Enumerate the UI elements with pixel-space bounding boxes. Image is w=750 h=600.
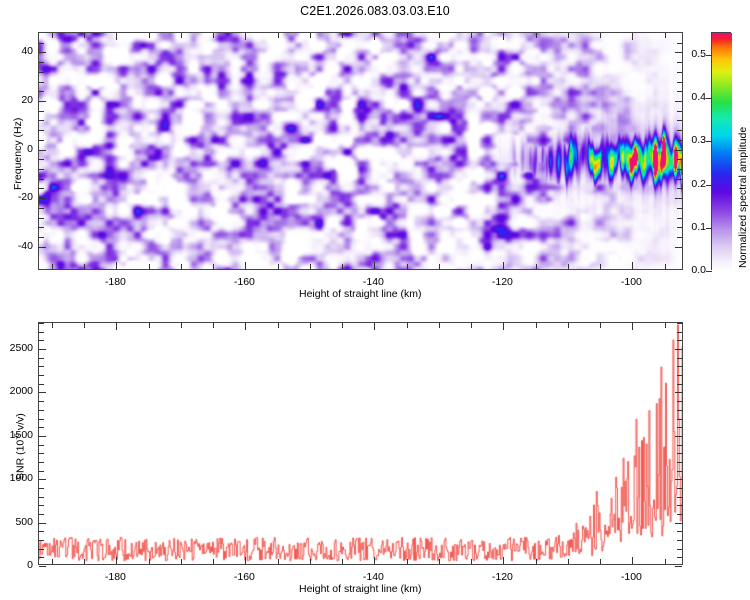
axis-tick — [39, 140, 44, 141]
axis-tick — [677, 72, 682, 73]
colorbar-tick-label: 0.3 — [678, 134, 706, 146]
snr-y-tick-label: 0 — [0, 559, 33, 571]
axis-tick — [568, 33, 569, 38]
figure-root: C2E1.2026.083.03.03.E10 -180-160-140-120… — [0, 0, 750, 600]
spectrogram-y-tick-label: 40 — [0, 45, 33, 57]
axis-tick — [342, 264, 343, 269]
axis-tick — [39, 566, 46, 567]
axis-tick — [39, 549, 44, 550]
axis-tick — [374, 323, 375, 330]
axis-tick — [677, 159, 682, 160]
axis-tick — [39, 531, 44, 532]
axis-tick — [677, 340, 682, 341]
axis-tick — [600, 323, 601, 328]
snr-x-tick-label: -140 — [363, 571, 384, 583]
axis-tick — [310, 323, 311, 328]
axis-tick — [677, 120, 682, 121]
axis-tick — [407, 33, 408, 38]
axis-tick — [39, 488, 44, 489]
axis-tick — [665, 559, 666, 564]
axis-tick — [677, 237, 682, 238]
axis-tick — [39, 557, 44, 558]
colorbar-tick — [706, 141, 712, 142]
axis-tick — [181, 264, 182, 269]
axis-tick — [245, 323, 246, 330]
axis-tick — [677, 427, 682, 428]
axis-tick — [675, 523, 682, 524]
axis-tick — [39, 340, 44, 341]
colorbar-tick-label: 0.5 — [678, 48, 706, 60]
axis-tick — [677, 111, 682, 112]
axis-tick — [677, 471, 682, 472]
axis-tick — [39, 505, 44, 506]
axis-tick — [675, 198, 682, 199]
spectrogram-clip — [39, 33, 682, 269]
axis-tick — [536, 323, 537, 328]
axis-tick — [39, 227, 44, 228]
spectrogram-x-axis-title: Height of straight line (km) — [299, 288, 422, 300]
spectrogram-x-tick-label: -120 — [492, 276, 513, 288]
axis-tick — [675, 392, 682, 393]
axis-tick — [149, 33, 150, 38]
axis-tick — [568, 264, 569, 269]
axis-tick — [677, 401, 682, 402]
axis-tick — [342, 33, 343, 38]
spectrogram-x-tick-label: -180 — [105, 276, 126, 288]
axis-tick — [39, 462, 44, 463]
axis-tick — [677, 218, 682, 219]
axis-tick — [39, 43, 44, 44]
axis-tick — [39, 540, 44, 541]
axis-tick — [677, 62, 682, 63]
axis-tick — [39, 91, 44, 92]
axis-tick — [84, 323, 85, 328]
axis-tick — [471, 559, 472, 564]
axis-tick — [116, 33, 117, 40]
axis-tick — [39, 188, 44, 189]
axis-tick — [149, 264, 150, 269]
axis-tick — [181, 33, 182, 38]
axis-tick — [632, 33, 633, 40]
axis-tick — [439, 33, 440, 38]
axis-tick — [568, 559, 569, 564]
spectrogram-panel — [38, 32, 683, 270]
axis-tick — [677, 130, 682, 131]
axis-tick — [675, 349, 682, 350]
axis-tick — [342, 323, 343, 328]
axis-tick — [665, 33, 666, 38]
axis-tick — [39, 445, 44, 446]
axis-tick — [52, 33, 53, 38]
colorbar-tick-label: 0.4 — [678, 91, 706, 103]
axis-tick — [503, 33, 504, 40]
axis-tick — [39, 179, 44, 180]
axis-tick — [39, 198, 46, 199]
axis-tick — [342, 559, 343, 564]
axis-tick — [39, 130, 44, 131]
axis-tick — [213, 264, 214, 269]
axis-tick — [213, 323, 214, 328]
axis-tick — [677, 169, 682, 170]
axis-tick — [677, 462, 682, 463]
colorbar-tick-label: 0.0 — [678, 264, 706, 276]
axis-tick — [39, 208, 44, 209]
axis-tick — [600, 264, 601, 269]
snr-y-axis-title-text: SNR (10 — [15, 440, 27, 480]
axis-tick — [677, 505, 682, 506]
colorbar-tick-label: 0.1 — [678, 221, 706, 233]
snr-trace — [39, 323, 682, 564]
axis-tick — [675, 566, 682, 567]
axis-tick — [39, 419, 44, 420]
axis-tick — [278, 33, 279, 38]
snr-y-tick-label: 2000 — [0, 385, 33, 397]
snr-x-tick-label: -100 — [621, 571, 642, 583]
axis-tick — [677, 358, 682, 359]
axis-tick — [39, 375, 44, 376]
axis-tick — [39, 237, 44, 238]
axis-tick — [39, 349, 46, 350]
axis-tick — [677, 375, 682, 376]
spectrogram-y-tick-label: -20 — [0, 191, 33, 203]
axis-tick — [677, 453, 682, 454]
axis-tick — [665, 264, 666, 269]
axis-tick — [278, 323, 279, 328]
colorbar-tick — [706, 228, 712, 229]
axis-tick — [310, 559, 311, 564]
axis-tick — [213, 559, 214, 564]
snr-y-axis-exponent: -6 — [12, 433, 21, 440]
axis-tick — [52, 264, 53, 269]
colorbar-gradient — [712, 33, 732, 271]
axis-tick — [39, 384, 44, 385]
axis-tick — [503, 323, 504, 330]
axis-tick — [39, 62, 44, 63]
axis-tick — [471, 323, 472, 328]
axis-tick — [39, 366, 44, 367]
axis-tick — [536, 33, 537, 38]
axis-tick — [632, 557, 633, 564]
axis-tick — [503, 557, 504, 564]
axis-tick — [84, 33, 85, 38]
axis-tick — [181, 323, 182, 328]
axis-tick — [39, 523, 46, 524]
axis-tick — [677, 497, 682, 498]
axis-tick — [677, 419, 682, 420]
axis-tick — [675, 150, 682, 151]
axis-tick — [374, 262, 375, 269]
axis-tick — [39, 218, 44, 219]
axis-tick — [149, 323, 150, 328]
axis-tick — [278, 264, 279, 269]
spectrogram-image — [39, 33, 682, 269]
spectrogram-y-axis-title: Frequency (Hz) — [12, 118, 24, 190]
axis-tick — [39, 332, 44, 333]
axis-tick — [39, 410, 44, 411]
snr-x-tick-label: -160 — [234, 571, 255, 583]
axis-tick — [677, 488, 682, 489]
spectrogram-y-tick-label: -40 — [0, 240, 33, 252]
snr-y-tick-label: 2500 — [0, 342, 33, 354]
axis-tick — [677, 540, 682, 541]
axis-tick — [632, 323, 633, 330]
axis-tick — [39, 52, 46, 53]
colorbar-tick — [706, 98, 712, 99]
snr-y-axis-title: SNR (10-6 v/v) — [12, 413, 27, 480]
axis-tick — [52, 323, 53, 328]
axis-tick — [39, 150, 46, 151]
colorbar — [711, 32, 731, 270]
axis-tick — [39, 101, 46, 102]
axis-tick — [39, 169, 44, 170]
axis-tick — [116, 323, 117, 330]
axis-tick — [39, 453, 44, 454]
axis-tick — [536, 559, 537, 564]
spectrogram-x-tick-label: -100 — [621, 276, 642, 288]
axis-tick — [213, 33, 214, 38]
snr-clip — [39, 323, 682, 564]
axis-tick — [39, 436, 46, 437]
axis-tick — [677, 323, 682, 324]
axis-tick — [677, 208, 682, 209]
axis-tick — [39, 82, 44, 83]
axis-tick — [407, 323, 408, 328]
axis-tick — [677, 410, 682, 411]
axis-tick — [374, 557, 375, 564]
axis-tick — [632, 262, 633, 269]
snr-x-axis-title: Height of straight line (km) — [299, 583, 422, 595]
axis-tick — [407, 264, 408, 269]
axis-tick — [677, 549, 682, 550]
axis-tick — [39, 392, 46, 393]
axis-tick — [39, 427, 44, 428]
axis-tick — [116, 262, 117, 269]
axis-tick — [677, 445, 682, 446]
axis-tick — [439, 264, 440, 269]
axis-tick — [245, 33, 246, 40]
axis-tick — [310, 33, 311, 38]
axis-tick — [677, 43, 682, 44]
axis-tick — [675, 247, 682, 248]
axis-tick — [39, 401, 44, 402]
axis-tick — [39, 323, 44, 324]
axis-tick — [39, 120, 44, 121]
axis-tick — [39, 159, 44, 160]
axis-tick — [677, 531, 682, 532]
spectrogram-y-tick-label: 20 — [0, 94, 33, 106]
axis-tick — [39, 479, 46, 480]
axis-tick — [677, 366, 682, 367]
colorbar-tick-label: 0.2 — [678, 178, 706, 190]
axis-tick — [471, 264, 472, 269]
axis-tick — [39, 247, 46, 248]
axis-tick — [374, 33, 375, 40]
spectrogram-x-tick-label: -140 — [363, 276, 384, 288]
axis-tick — [600, 559, 601, 564]
axis-tick — [677, 82, 682, 83]
axis-tick — [677, 332, 682, 333]
axis-tick — [84, 559, 85, 564]
axis-tick — [39, 358, 44, 359]
axis-tick — [675, 436, 682, 437]
colorbar-tick — [706, 55, 712, 56]
axis-tick — [39, 497, 44, 498]
snr-x-tick-label: -180 — [105, 571, 126, 583]
axis-tick — [116, 557, 117, 564]
axis-tick — [471, 33, 472, 38]
axis-tick — [310, 264, 311, 269]
axis-tick — [665, 323, 666, 328]
axis-tick — [39, 514, 44, 515]
axis-tick — [149, 559, 150, 564]
axis-tick — [245, 557, 246, 564]
axis-tick — [677, 514, 682, 515]
axis-tick — [439, 323, 440, 328]
axis-tick — [677, 557, 682, 558]
snr-panel — [38, 322, 683, 565]
axis-tick — [677, 384, 682, 385]
axis-tick — [52, 559, 53, 564]
axis-tick — [439, 559, 440, 564]
axis-tick — [503, 262, 504, 269]
axis-tick — [84, 264, 85, 269]
axis-tick — [568, 323, 569, 328]
spectrogram-x-tick-label: -160 — [234, 276, 255, 288]
axis-tick — [245, 262, 246, 269]
axis-tick — [536, 264, 537, 269]
axis-tick — [39, 72, 44, 73]
snr-y-tick-label: 500 — [0, 516, 33, 528]
snr-y-axis-units: v/v) — [15, 413, 27, 433]
colorbar-tick — [706, 185, 712, 186]
colorbar-tick — [706, 271, 712, 272]
axis-tick — [675, 479, 682, 480]
axis-tick — [278, 559, 279, 564]
snr-x-tick-label: -120 — [492, 571, 513, 583]
axis-tick — [600, 33, 601, 38]
axis-tick — [39, 471, 44, 472]
page-title: C2E1.2026.083.03.03.E10 — [0, 4, 750, 18]
axis-tick — [39, 111, 44, 112]
axis-tick — [407, 559, 408, 564]
axis-tick — [181, 559, 182, 564]
colorbar-title: Normalized spectral amplitude — [737, 127, 749, 268]
